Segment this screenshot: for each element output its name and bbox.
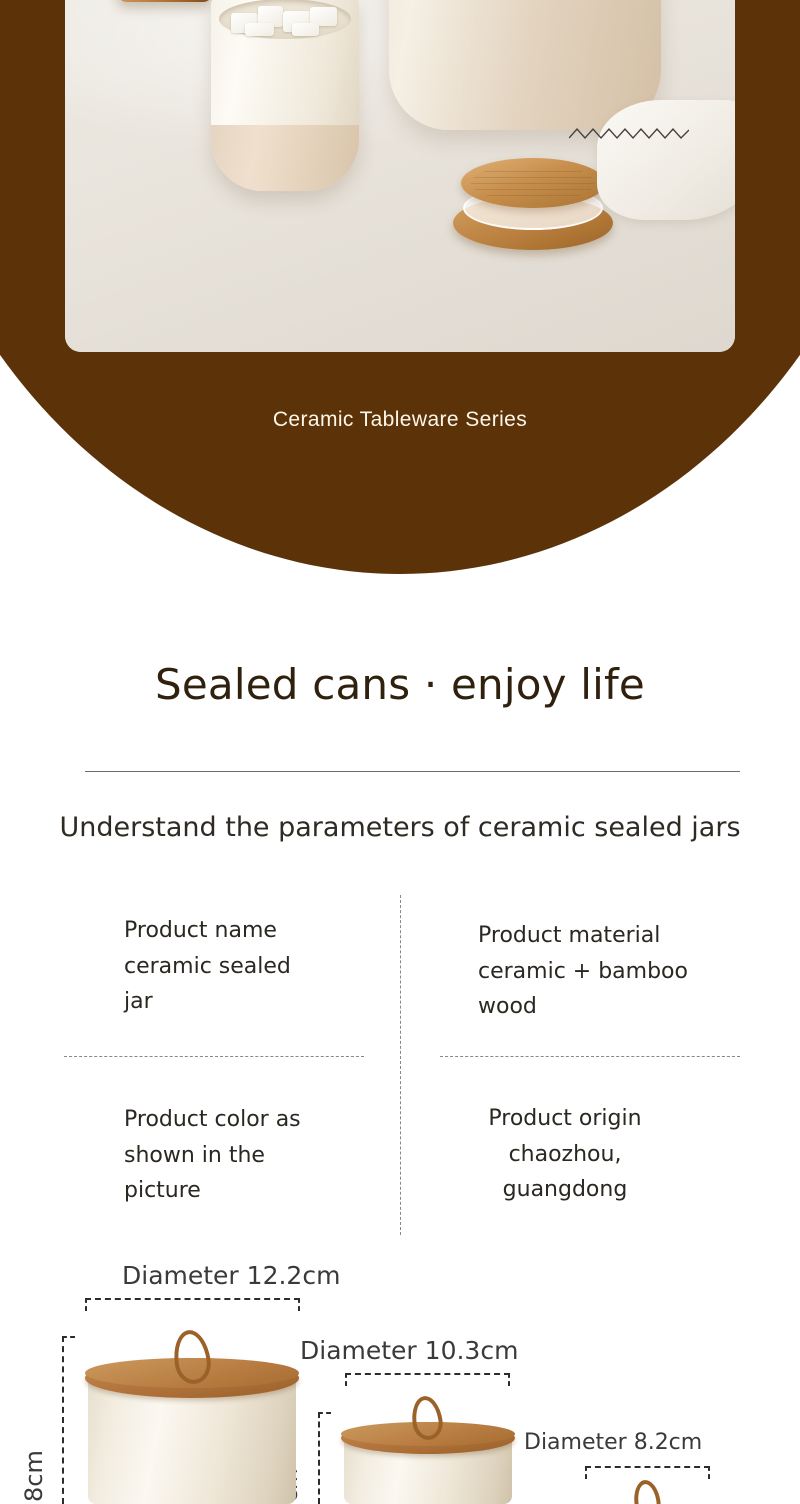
hero-product-photo: [65, 0, 735, 352]
parameter-line: ceramic sealed: [124, 949, 374, 985]
diameter-bracket-small: [585, 1466, 710, 1480]
parameter-line: Product name: [124, 913, 374, 949]
parameter-cell-product-name: Product name ceramic sealed jar: [62, 913, 374, 1020]
parameter-cell-product-origin: Product origin chaozhou, guangdong: [430, 1101, 742, 1208]
hero-banner: Ceramic Tableware Series: [0, 0, 800, 600]
bracket-tick-left: [85, 1298, 87, 1311]
diameter-bracket-medium: [345, 1373, 510, 1387]
title-divider: [85, 771, 740, 772]
bracket-tick-right: [708, 1466, 710, 1479]
diameter-bracket-large: [85, 1298, 300, 1312]
jar-lid-loop-handle: [631, 1478, 662, 1504]
jar-small: [588, 1480, 712, 1504]
parameters-table: Product name ceramic sealed jar Product …: [62, 895, 742, 1235]
diameter-label-large: Diameter 12.2cm: [122, 1261, 340, 1290]
parameter-line: shown in the: [124, 1138, 374, 1174]
photo-cloth-stitching-icon: [569, 126, 689, 142]
jar-large: [88, 1336, 296, 1504]
bracket-bar: [62, 1336, 64, 1504]
bracket-bar: [318, 1412, 320, 1504]
dimension-diagram: Diameter 12.2cm Diameter 10.3cm Diameter…: [0, 1240, 800, 1504]
photo-cup-color-band: [211, 125, 359, 191]
parameter-line: Product color as: [124, 1102, 374, 1138]
diameter-label-small: Diameter 8.2cm: [524, 1430, 702, 1455]
photo-linen-cloth: [597, 100, 735, 220]
parameter-line: guangdong: [430, 1172, 700, 1208]
page-subtitle: Understand the parameters of ceramic sea…: [0, 812, 800, 843]
height-label-large: 8cm: [20, 1450, 48, 1502]
parameter-line: wood: [478, 989, 742, 1025]
photo-amber-bottle: [117, 0, 213, 2]
bracket-tick-right: [298, 1298, 300, 1311]
bracket-tick-left: [585, 1466, 587, 1479]
parameter-cell-product-color: Product color as shown in the picture: [62, 1102, 374, 1209]
diameter-label-medium: Diameter 10.3cm: [300, 1336, 518, 1365]
parameter-cell-product-material: Product material ceramic + bamboo wood: [430, 918, 742, 1025]
parameter-line: picture: [124, 1173, 374, 1209]
photo-lid-wood-grain: [471, 164, 595, 202]
bracket-tick-top: [62, 1336, 75, 1338]
photo-sugar-cubes: [229, 3, 341, 37]
bracket-tick-top: [318, 1412, 331, 1414]
height-bracket-large: [62, 1336, 76, 1504]
photo-bamboo-lid-upper: [461, 158, 605, 208]
parameters-row-divider-left: [64, 1056, 364, 1057]
jar-medium: [344, 1412, 512, 1504]
bracket-bar: [85, 1298, 300, 1300]
page-title: Sealed cans · enjoy life: [0, 660, 800, 709]
parameter-line: Product material: [478, 918, 742, 954]
bracket-tick-left: [345, 1373, 347, 1386]
parameter-line: ceramic + bamboo: [478, 954, 742, 990]
parameter-line: jar: [124, 984, 374, 1020]
hero-caption: Ceramic Tableware Series: [0, 408, 800, 432]
bracket-bar: [585, 1466, 710, 1468]
parameter-line: chaozhou,: [430, 1137, 700, 1173]
photo-small-cup: [211, 0, 359, 191]
bracket-bar: [345, 1373, 510, 1375]
parameter-line: Product origin: [430, 1101, 700, 1137]
bracket-tick-right: [508, 1373, 510, 1386]
parameters-vertical-divider: [400, 895, 401, 1235]
parameters-row-divider-right: [440, 1056, 740, 1057]
height-bracket-medium: [318, 1412, 332, 1504]
